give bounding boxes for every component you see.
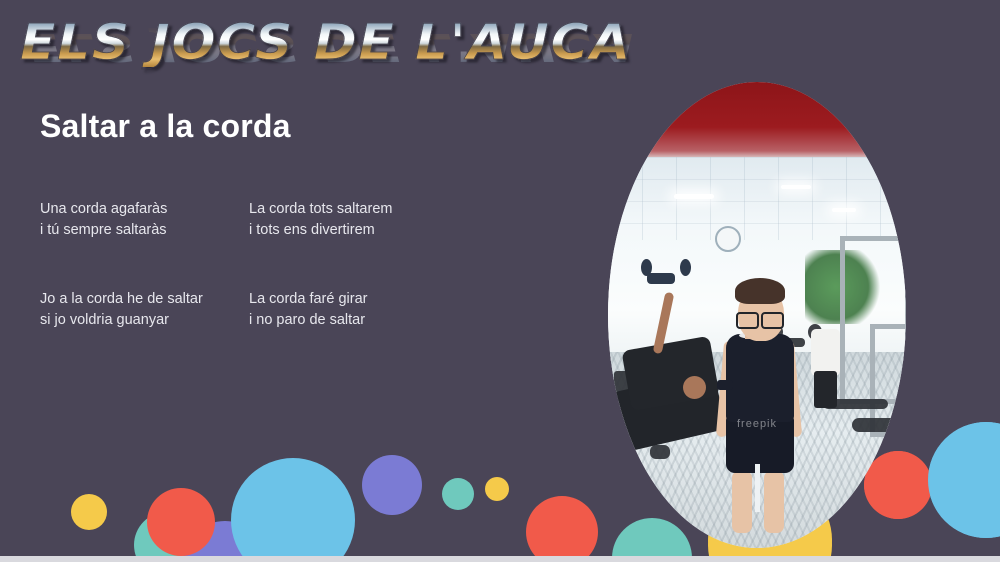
background-person-legs xyxy=(814,371,838,408)
circle-coral-mid-left xyxy=(147,488,215,556)
circle-blue-front-right xyxy=(928,422,1000,538)
ceiling-lamp-icon xyxy=(674,194,714,199)
boy-jumping-rope-photo: freepik xyxy=(608,82,906,548)
ceiling-lamp-icon xyxy=(832,208,856,212)
bench-pad xyxy=(852,418,900,432)
verse-block-3: Jo a la corda he de saltar si jo voldria… xyxy=(40,289,203,330)
verse-block-1: Una corda agafaràs i tú sempre saltaràs xyxy=(40,199,167,240)
verse-line: La corda faré girar xyxy=(249,289,367,310)
boy-right-leg xyxy=(764,471,784,533)
photo-watermark: freepik xyxy=(737,418,777,430)
verse-line: Jo a la corda he de saltar xyxy=(40,289,203,310)
presentation-slide: ELS JOCS DE L'AUCA ELS JOCS DE L'AUCA Sa… xyxy=(0,0,1000,562)
boy-shorts-gap xyxy=(755,464,760,512)
ceiling-lamp-icon xyxy=(781,185,811,189)
circle-teal-left xyxy=(134,512,200,562)
verse-block-4: La corda faré girar i no paro de saltar xyxy=(249,289,367,330)
circle-yellow-small-left xyxy=(71,494,107,530)
circle-blue-large-right xyxy=(928,422,1000,538)
floor-dumbbell xyxy=(650,445,670,459)
photo-contents: freepik xyxy=(608,82,906,548)
boy-tank-top xyxy=(726,334,794,422)
circle-blue-large-mid xyxy=(231,458,355,562)
verse-line: La corda tots saltarem xyxy=(249,199,392,220)
wordart-title-block: ELS JOCS DE L'AUCA ELS JOCS DE L'AUCA xyxy=(16,8,561,113)
bottom-edge-strip xyxy=(0,556,1000,562)
dumbbell-weight xyxy=(680,259,691,276)
circle-purple-mid xyxy=(362,455,422,515)
background-man-head xyxy=(683,376,706,399)
boy-wristband xyxy=(717,380,733,390)
dumbbell-weight xyxy=(641,259,652,276)
circle-yellow-small-mid xyxy=(485,477,509,501)
circle-teal-small-mid xyxy=(442,478,474,510)
gym-ceiling-grid xyxy=(608,157,906,241)
verse-line: Una corda agafaràs xyxy=(40,199,167,220)
verse-block-2: La corda tots saltarem i tots ens divert… xyxy=(249,199,392,240)
boy-left-leg xyxy=(732,471,752,533)
verse-line: i tú sempre saltaràs xyxy=(40,220,167,241)
background-person-shirt xyxy=(811,329,841,376)
glasses-icon xyxy=(736,312,784,325)
boy-hair xyxy=(735,278,785,304)
wordart-title-text: ELS JOCS DE L'AUCA xyxy=(20,18,632,67)
verse-line: i tots ens divertirem xyxy=(249,220,392,241)
dumbbell-icon xyxy=(647,273,675,284)
circle-coral-below-oval xyxy=(526,496,598,562)
verse-line: i no paro de saltar xyxy=(249,310,367,331)
page-title: Saltar a la corda xyxy=(40,108,291,145)
gym-red-ceiling xyxy=(608,82,906,157)
verse-line: si jo voldria guanyar xyxy=(40,310,203,331)
